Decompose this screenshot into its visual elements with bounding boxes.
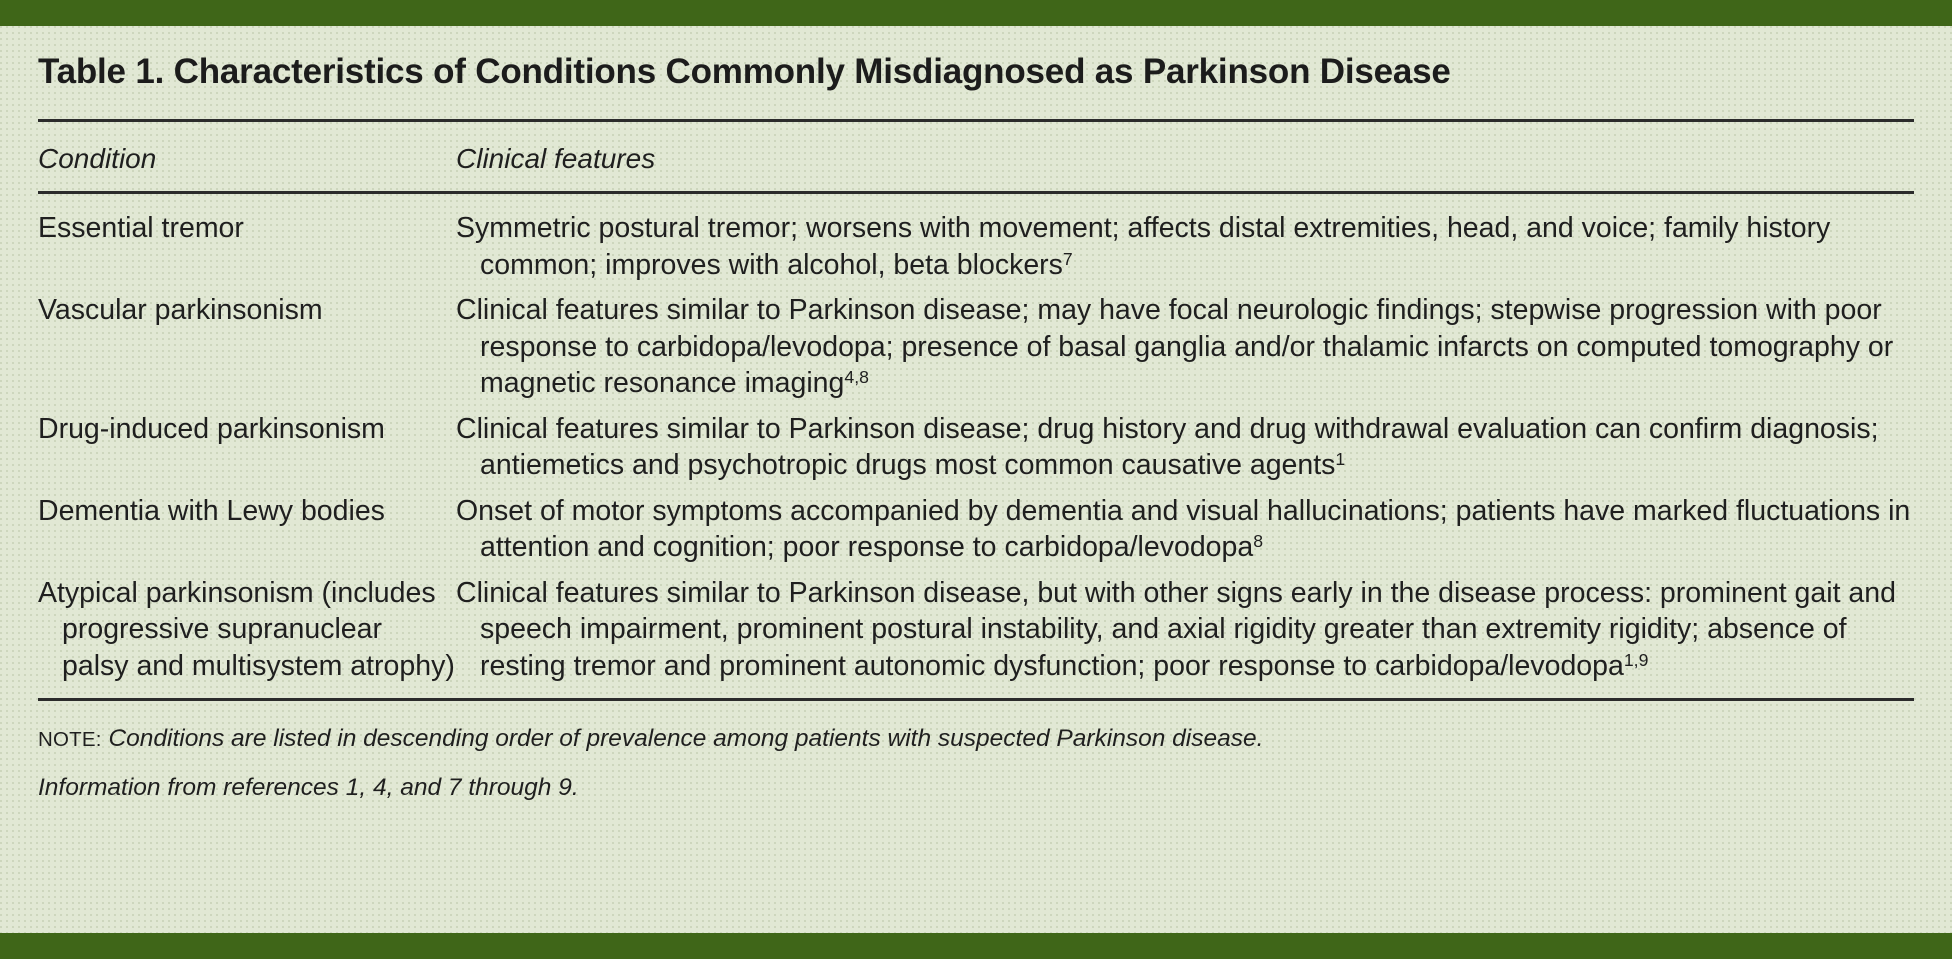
footnote-source: Information from references 1, 4, and 7 … <box>36 771 1916 805</box>
cell-features-text: Clinical features similar to Parkinson d… <box>456 294 1893 399</box>
footnote-note: NOTE: Conditions are listed in descendin… <box>36 722 1916 757</box>
table-body: Essential tremor Symmetric postural trem… <box>36 194 1916 698</box>
table-row: Vascular parkinsonism Clinical features … <box>36 292 1916 411</box>
table-row: Essential tremor Symmetric postural trem… <box>36 210 1916 292</box>
reference-superscript: 8 <box>1253 531 1263 551</box>
table-header-row: Condition Clinical features <box>36 122 1916 191</box>
cell-condition: Atypical parkinsonism (includes progress… <box>38 575 456 685</box>
note-label: NOTE: <box>38 728 102 751</box>
cell-clinical-features: Clinical features similar to Parkinson d… <box>456 575 1912 685</box>
reference-superscript: 7 <box>1063 249 1073 269</box>
cell-features-text: Onset of motor symptoms accompanied by d… <box>456 495 1910 564</box>
cell-clinical-features: Onset of motor symptoms accompanied by d… <box>456 493 1912 566</box>
cell-features-text: Symmetric postural tremor; worsens with … <box>456 212 1830 281</box>
cell-condition: Drug-induced parkinsonism <box>38 411 456 448</box>
table-row: Atypical parkinsonism (includes progress… <box>36 575 1916 685</box>
column-header-condition: Condition <box>36 143 456 175</box>
reference-superscript: 1,9 <box>1624 650 1649 670</box>
table-row: Dementia with Lewy bodies Onset of motor… <box>36 493 1916 575</box>
cell-clinical-features: Clinical features similar to Parkinson d… <box>456 292 1912 402</box>
table-figure: Table 1. Characteristics of Conditions C… <box>0 0 1952 959</box>
table-row: Drug-induced parkinsonism Clinical featu… <box>36 411 1916 493</box>
reference-superscript: 4,8 <box>844 367 869 387</box>
page-title: Table 1. Characteristics of Conditions C… <box>36 26 1916 92</box>
note-text: Conditions are listed in descending orde… <box>108 725 1263 752</box>
cell-features-text: Clinical features similar to Parkinson d… <box>456 577 1896 682</box>
reference-superscript: 1 <box>1335 449 1345 469</box>
cell-condition: Essential tremor <box>38 210 456 247</box>
table-footnotes: NOTE: Conditions are listed in descendin… <box>36 701 1916 805</box>
column-header-clinical-features: Clinical features <box>456 143 1916 175</box>
cell-condition: Dementia with Lewy bodies <box>38 493 456 530</box>
cell-clinical-features: Clinical features similar to Parkinson d… <box>456 411 1912 484</box>
cell-condition: Vascular parkinsonism <box>38 292 456 329</box>
cell-clinical-features: Symmetric postural tremor; worsens with … <box>456 210 1912 283</box>
cell-features-text: Clinical features similar to Parkinson d… <box>456 413 1879 482</box>
